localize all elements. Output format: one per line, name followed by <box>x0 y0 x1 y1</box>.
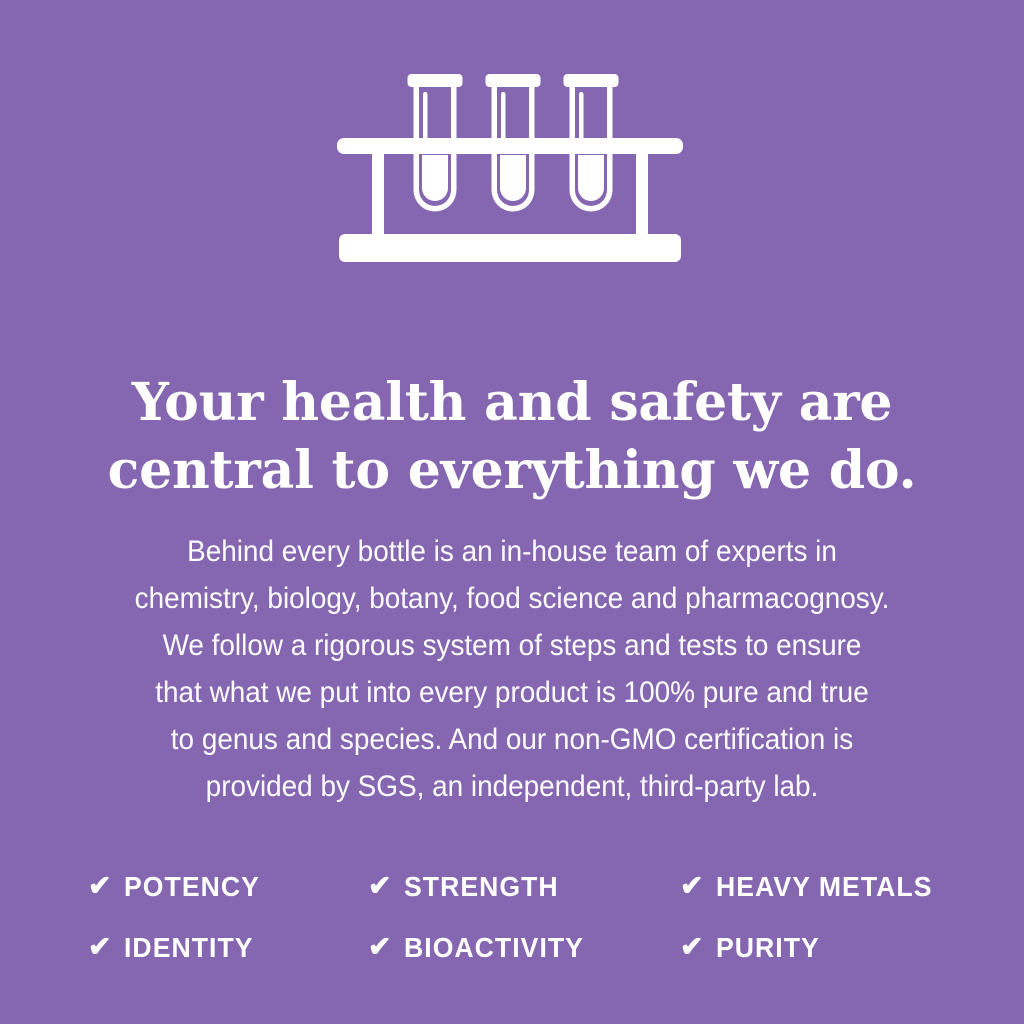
checklist-item-label: POTENCY <box>124 873 260 901</box>
checklist-item-label: STRENGTH <box>404 873 559 901</box>
checklist-item-purity: ✔ PURITY <box>680 934 958 962</box>
check-icon: ✔ <box>368 933 391 961</box>
checklist-item-potency: ✔ POTENCY <box>88 873 368 901</box>
checklist-item-bioactivity: ✔ BIOACTIVITY <box>368 934 680 962</box>
body-paragraph: Behind every bottle is an in-house team … <box>103 528 921 810</box>
check-icon: ✔ <box>88 933 111 961</box>
check-icon: ✔ <box>680 872 703 900</box>
checklist-item-label: PURITY <box>716 934 820 962</box>
check-icon: ✔ <box>368 872 391 900</box>
checklist-item-heavy-metals: ✔ HEAVY METALS <box>680 873 958 901</box>
checklist-item-label: BIOACTIVITY <box>404 934 584 962</box>
promo-card: Your health and safety are central to ev… <box>0 0 1024 1024</box>
icon-container <box>0 70 1024 266</box>
checklist-item-strength: ✔ STRENGTH <box>368 873 680 901</box>
checklist-item-label: IDENTITY <box>124 934 254 962</box>
checklist-item-identity: ✔ IDENTITY <box>88 934 368 962</box>
check-icon: ✔ <box>88 872 111 900</box>
checklist-item-label: HEAVY METALS <box>716 873 932 901</box>
check-icon: ✔ <box>680 933 703 961</box>
page-title: Your health and safety are central to ev… <box>62 369 962 505</box>
quality-checklist: ✔ POTENCY ✔ STRENGTH ✔ HEAVY METALS ✔ ID… <box>88 856 958 978</box>
test-tube-rack-icon <box>337 70 687 266</box>
